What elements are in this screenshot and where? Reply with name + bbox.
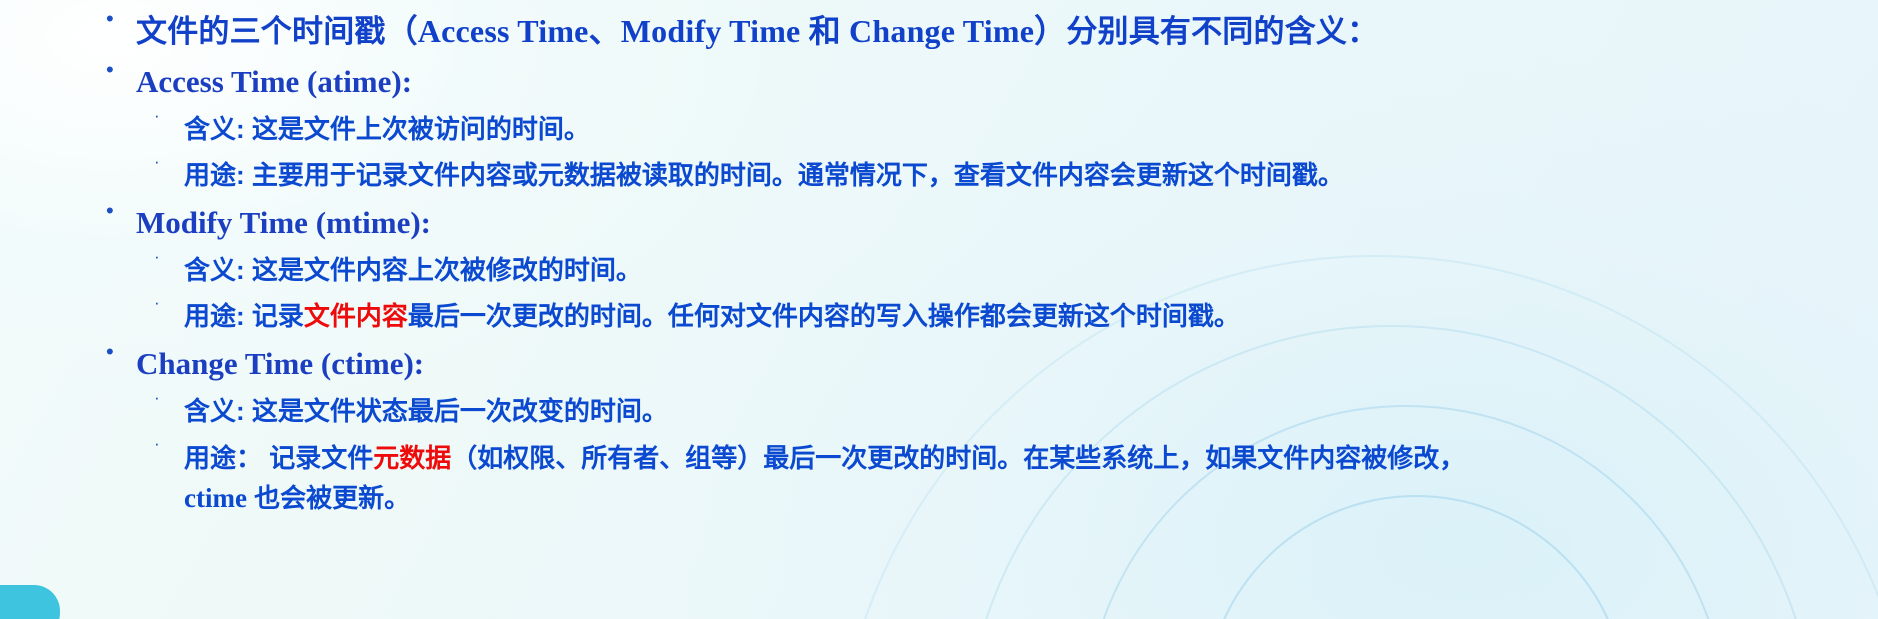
page-title: 文件的三个时间戳（Access Time、Modify Time 和 Chang… xyxy=(136,6,1878,57)
emphasis-metadata: 元数据 xyxy=(373,443,451,473)
heading-paren: （Access Time、Modify Time 和 Change Time） xyxy=(386,13,1067,49)
section-change-time: • Change Time (ctime): · 含义: 这是文件状态最后一次改… xyxy=(0,339,1878,518)
sub-list-ctime: · 含义: 这是文件状态最后一次改变的时间。 · 用途： 记录文件元数据（如权限… xyxy=(136,388,1878,518)
value-post: （如权限、所有者、组等）最后一次更改的时间。在某些系统上，如果文件内容被修改， xyxy=(451,443,1465,473)
section-modify-time: • Modify Time (mtime): · 含义: 这是文件内容上次被修改… xyxy=(0,198,1878,339)
list-item: · 用途： 记录文件元数据（如权限、所有者、组等）最后一次更改的时间。在某些系统… xyxy=(136,434,1878,518)
section-title-ctime: Change Time (ctime): xyxy=(136,339,1878,388)
value: 这是文件状态最后一次改变的时间。 xyxy=(245,396,668,426)
list-item: · 含义: 这是文件上次被访问的时间。 xyxy=(136,106,1878,152)
section-title-atime: Access Time (atime): xyxy=(136,57,1878,106)
ctime-keyword: ctime xyxy=(184,483,247,513)
bullet-glyph: • xyxy=(106,198,114,224)
list-item: · 用途: 记录文件内容最后一次更改的时间。任何对文件内容的写入操作都会更新这个… xyxy=(136,293,1878,339)
heading-cn-lead: 文件的三个时间戳 xyxy=(136,14,386,49)
sub-bullet-glyph: · xyxy=(154,434,160,454)
ctime-meaning: 含义: 这是文件状态最后一次改变的时间。 xyxy=(184,388,1878,434)
emphasis-file-content: 文件内容 xyxy=(304,301,408,331)
label: 用途: xyxy=(184,301,245,331)
label: 含义: xyxy=(184,255,245,285)
value-pre: 记录文件 xyxy=(262,443,373,473)
label: 含义: xyxy=(184,396,245,426)
label: 含义: xyxy=(184,114,245,144)
sub-bullet-glyph: · xyxy=(154,152,160,172)
value: 主要用于记录文件内容或元数据被读取的时间。通常情况下，查看文件内容会更新这个时间… xyxy=(245,160,1344,190)
list-item: · 含义: 这是文件状态最后一次改变的时间。 xyxy=(136,388,1878,434)
bullet-glyph: • xyxy=(106,6,114,32)
ctime-usage-line2: ctime 也会被更新。 xyxy=(184,478,1878,518)
slide-canvas: • 文件的三个时间戳（Access Time、Modify Time 和 Cha… xyxy=(0,0,1878,619)
value-post: 最后一次更改的时间。任何对文件内容的写入操作都会更新这个时间戳。 xyxy=(408,301,1240,331)
sub-bullet-glyph: · xyxy=(154,106,160,126)
mtime-usage: 用途: 记录文件内容最后一次更改的时间。任何对文件内容的写入操作都会更新这个时间… xyxy=(184,293,1878,339)
sub-bullet-glyph: · xyxy=(154,293,160,313)
atime-usage: 用途: 主要用于记录文件内容或元数据被读取的时间。通常情况下，查看文件内容会更新… xyxy=(184,152,1878,198)
section-title-mtime: Modify Time (mtime): xyxy=(136,198,1878,247)
sub-list-atime: · 含义: 这是文件上次被访问的时间。 · 用途: 主要用于记录文件内容或元数据… xyxy=(136,106,1878,198)
bullet-glyph: • xyxy=(106,339,114,365)
label: 用途: xyxy=(184,160,245,190)
ctime-usage-line2-rest: 也会被更新。 xyxy=(247,483,410,513)
value: 这是文件内容上次被修改的时间。 xyxy=(245,255,642,285)
sub-bullet-glyph: · xyxy=(154,388,160,408)
outline-list: • 文件的三个时间戳（Access Time、Modify Time 和 Cha… xyxy=(0,6,1878,518)
atime-meaning: 含义: 这是文件上次被访问的时间。 xyxy=(184,106,1878,152)
heading-bullet-item: • 文件的三个时间戳（Access Time、Modify Time 和 Cha… xyxy=(0,6,1878,57)
slide-content: • 文件的三个时间戳（Access Time、Modify Time 和 Cha… xyxy=(0,0,1878,518)
ctime-usage: 用途： 记录文件元数据（如权限、所有者、组等）最后一次更改的时间。在某些系统上，… xyxy=(184,434,1878,518)
sub-list-mtime: · 含义: 这是文件内容上次被修改的时间。 · 用途: 记录文件内容最后一次更改… xyxy=(136,247,1878,339)
bullet-glyph: • xyxy=(106,57,114,83)
value: 这是文件上次被访问的时间。 xyxy=(245,114,590,144)
sub-bullet-glyph: · xyxy=(154,247,160,267)
list-item: · 用途: 主要用于记录文件内容或元数据被读取的时间。通常情况下，查看文件内容会… xyxy=(136,152,1878,198)
section-access-time: • Access Time (atime): · 含义: 这是文件上次被访问的时… xyxy=(0,57,1878,198)
value-pre: 记录 xyxy=(245,301,304,331)
list-item: · 含义: 这是文件内容上次被修改的时间。 xyxy=(136,247,1878,293)
mtime-meaning: 含义: 这是文件内容上次被修改的时间。 xyxy=(184,247,1878,293)
heading-cn-tail: 分别具有不同的含义： xyxy=(1066,14,1378,49)
label: 用途： xyxy=(184,443,262,473)
corner-tab-decoration xyxy=(0,585,60,619)
